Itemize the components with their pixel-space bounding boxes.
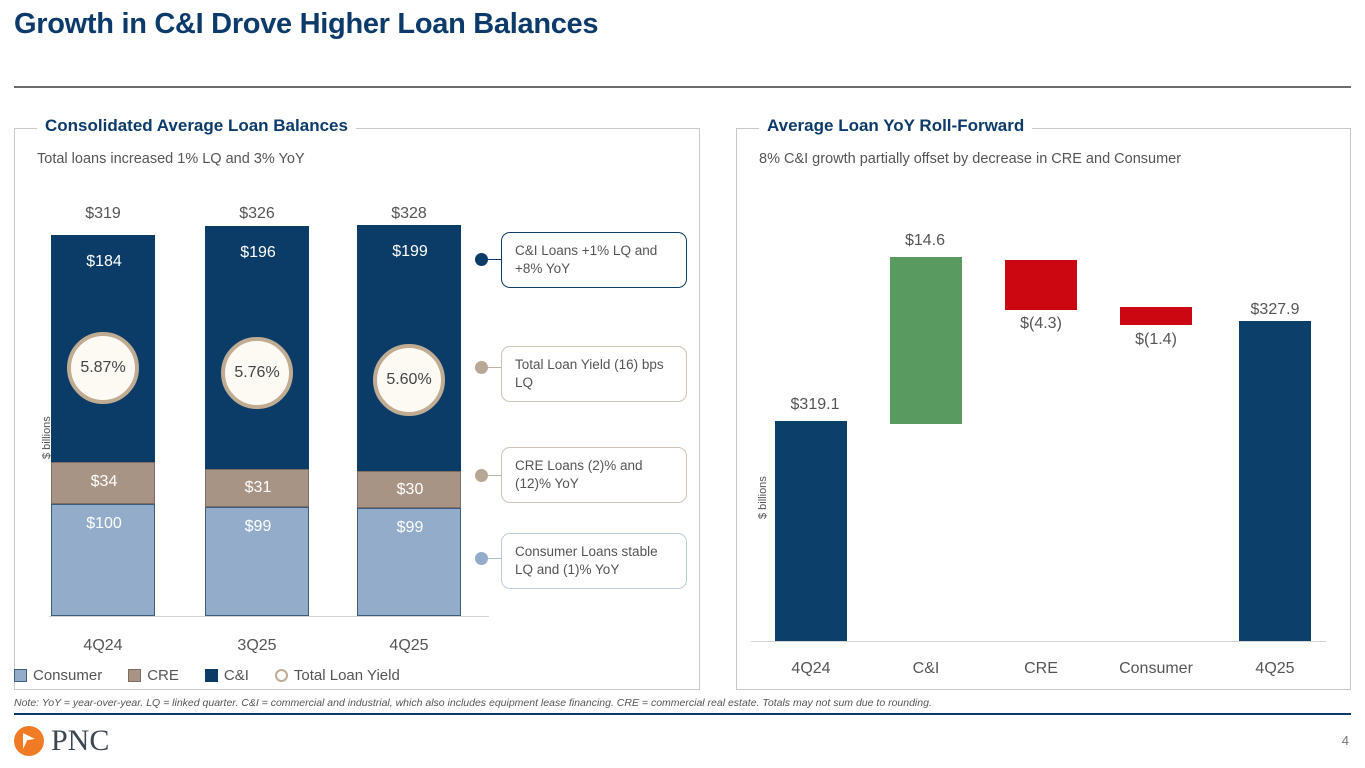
segment-value: $30 (358, 481, 462, 499)
segment-value: $184 (52, 253, 156, 271)
x-tick-label: 4Q25 (357, 637, 461, 655)
panel-consolidated-average-loan-balances: Consolidated Average Loan Balances Total… (14, 128, 700, 690)
chart-legend: Consumer CRE C&I Total Loan Yield (14, 667, 400, 684)
legend-item-consumer: Consumer (14, 667, 102, 684)
yield-value: 5.60% (386, 371, 431, 389)
bar-segment-cre: $31 (205, 469, 309, 507)
pnc-logo-text: PNC (51, 726, 109, 756)
page-title: Growth in C&I Drove Higher Loan Balances (14, 8, 598, 41)
total-loan-yield-bubble: 5.87% (67, 332, 139, 404)
callout-marker-dot (475, 361, 488, 374)
bar-value-label: $(4.3) (986, 315, 1096, 333)
waterfall-chart: $ billions $319.1 $14.6 $(4.3) $(1.4) $3… (737, 129, 1352, 691)
segment-value: $34 (52, 473, 156, 491)
left-chart-baseline (49, 616, 489, 617)
yield-value: 5.87% (80, 359, 125, 377)
segment-value: $99 (358, 519, 462, 537)
cre-swatch-icon (128, 669, 141, 682)
waterfall-bar-consumer (1120, 307, 1192, 325)
stacked-bar-chart: $ billions $319 $184 $34 $100 5.87% $326… (15, 129, 701, 691)
waterfall-bar-ci (890, 257, 962, 424)
right-chart-baseline (751, 641, 1326, 642)
segment-value: $99 (206, 518, 310, 536)
x-tick-label: 4Q24 (51, 637, 155, 655)
bar-segment-consumer: $99 (357, 508, 461, 616)
consumer-swatch-icon (14, 669, 27, 682)
callout-marker-dot (475, 552, 488, 565)
total-loan-yield-bubble: 5.60% (373, 344, 445, 416)
callout-marker-dot (475, 469, 488, 482)
bar-segment-consumer: $100 (51, 504, 155, 616)
x-tick-label: C&I (871, 660, 981, 678)
legend-label: Consumer (33, 667, 102, 684)
page-number: 4 (1342, 733, 1349, 748)
footnote: Note: YoY = year-over-year. LQ = linked … (14, 697, 932, 709)
total-label: $328 (357, 205, 461, 223)
x-tick-label: Consumer (1101, 660, 1211, 678)
segment-value: $100 (52, 515, 156, 533)
x-tick-label: CRE (986, 660, 1096, 678)
panel-average-loan-yoy-roll-forward: Average Loan YoY Roll-Forward 8% C&I gro… (736, 128, 1351, 690)
segment-value: $199 (358, 243, 462, 261)
yield-circle-icon (275, 669, 288, 682)
segment-value: $31 (206, 479, 310, 497)
footer-divider (14, 713, 1351, 715)
x-tick-label: 3Q25 (205, 637, 309, 655)
callout-total-loan-yield: Total Loan Yield (16) bps LQ (501, 346, 687, 402)
callout-consumer-loans: Consumer Loans stable LQ and (1)% YoY (501, 533, 687, 589)
bar-value-label: $14.6 (870, 232, 980, 250)
bar-segment-cre: $34 (51, 462, 155, 504)
legend-item-cre: CRE (128, 667, 179, 684)
bar-segment-cre: $30 (357, 471, 461, 508)
pnc-logo-mark-icon (14, 726, 44, 756)
segment-value: $196 (206, 244, 310, 262)
total-label: $319 (51, 205, 155, 223)
legend-label: Total Loan Yield (294, 667, 400, 684)
title-divider (14, 86, 1351, 88)
legend-label: C&I (224, 667, 249, 684)
legend-item-ci: C&I (205, 667, 249, 684)
yield-value: 5.76% (234, 364, 279, 382)
total-loan-yield-bubble: 5.76% (221, 337, 293, 409)
bar-value-label: $(1.4) (1101, 331, 1211, 349)
bar-value-label: $319.1 (760, 396, 870, 414)
callout-marker-dot (475, 253, 488, 266)
callout-ci-loans: C&I Loans +1% LQ and +8% YoY (501, 232, 687, 288)
bar-segment-consumer: $99 (205, 507, 309, 616)
legend-label: CRE (147, 667, 179, 684)
legend-item-total-loan-yield: Total Loan Yield (275, 667, 400, 684)
total-label: $326 (205, 205, 309, 223)
waterfall-bar-4q24 (775, 421, 847, 641)
x-tick-label: 4Q25 (1220, 660, 1330, 678)
pnc-logo: PNC (14, 726, 109, 756)
bar-value-label: $327.9 (1220, 301, 1330, 319)
right-y-axis-label: $ billions (757, 476, 769, 519)
x-tick-label: 4Q24 (756, 660, 866, 678)
ci-swatch-icon (205, 669, 218, 682)
callout-cre-loans: CRE Loans (2)% and (12)% YoY (501, 447, 687, 503)
waterfall-bar-4q25 (1239, 321, 1311, 641)
waterfall-bar-cre (1005, 260, 1077, 310)
